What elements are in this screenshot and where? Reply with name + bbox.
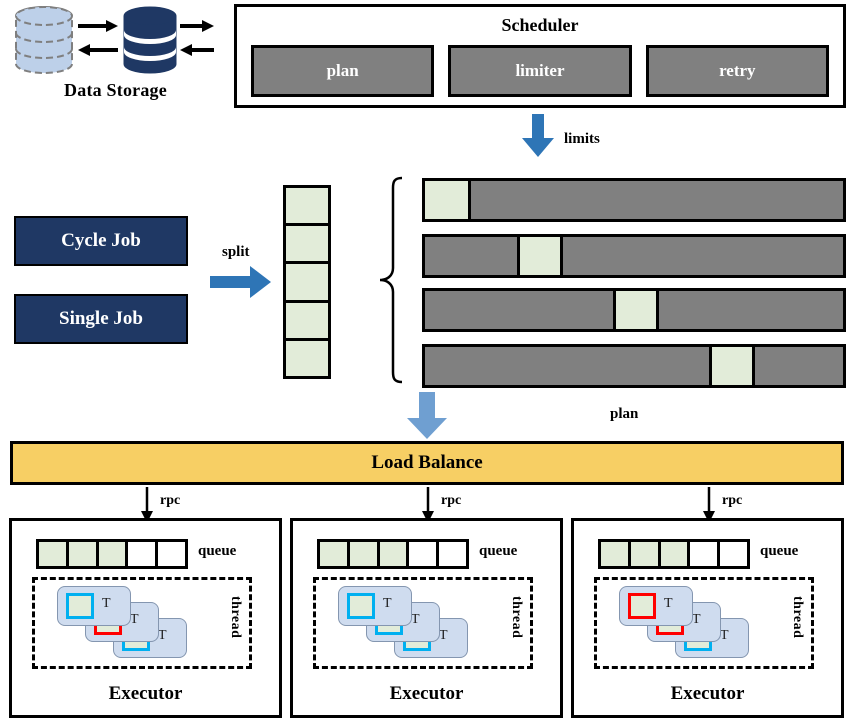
executor-label: Executor xyxy=(12,683,279,705)
thread-state-icon xyxy=(66,593,94,619)
scheduler-cell-limiter[interactable]: limiter xyxy=(448,45,631,97)
thread-card-label: T xyxy=(411,612,420,628)
task-cell xyxy=(286,188,328,226)
task-cell xyxy=(286,303,328,341)
limits-arrow-down-icon xyxy=(521,114,555,158)
plan-label: plan xyxy=(610,406,638,423)
scheduler-cell-row: plan limiter retry xyxy=(251,45,829,97)
data-storage-icon xyxy=(8,4,223,76)
scheduler-cell-retry[interactable]: retry xyxy=(646,45,829,97)
executor-queue xyxy=(598,539,750,569)
thread-card[interactable]: T xyxy=(619,586,693,626)
queue-cell xyxy=(690,542,720,566)
executor-queue xyxy=(36,539,188,569)
scheduler-cell-plan[interactable]: plan xyxy=(251,45,434,97)
arrow-pair-left xyxy=(78,20,118,56)
scheduler-panel: Scheduler plan limiter retry xyxy=(234,4,846,108)
thread-card-label: T xyxy=(439,628,448,644)
thread-card-label: T xyxy=(664,596,673,612)
thread-label: thread xyxy=(227,596,243,638)
executor-queue xyxy=(317,539,469,569)
queue-cell xyxy=(39,542,69,566)
timeline-bar-3 xyxy=(422,288,846,332)
thread-state-icon xyxy=(628,593,656,619)
executor-label: Executor xyxy=(574,683,841,705)
split-task-column xyxy=(283,185,331,379)
thread-card-label: T xyxy=(692,612,701,628)
thread-card[interactable]: T xyxy=(57,586,131,626)
queue-cell xyxy=(128,542,158,566)
database-cylinder-icon-center xyxy=(124,7,176,73)
thread-card-label: T xyxy=(130,612,139,628)
thread-card-label: T xyxy=(158,628,167,644)
timeline-bar-2 xyxy=(422,234,846,278)
timeline-bar-4 xyxy=(422,344,846,388)
rpc-label-2: rpc xyxy=(441,493,461,509)
task-cell xyxy=(286,341,328,376)
queue-cell xyxy=(69,542,99,566)
load-balance-bar[interactable]: Load Balance xyxy=(10,441,844,485)
queue-cell xyxy=(439,542,466,566)
thread-pool-box: thread T T T xyxy=(313,577,533,669)
queue-cell xyxy=(631,542,661,566)
queue-cell xyxy=(409,542,439,566)
executor-3-panel: queue thread T T T Executor xyxy=(571,518,844,718)
curly-brace-icon xyxy=(378,176,404,384)
split-arrow-right-icon xyxy=(210,265,272,299)
queue-cell xyxy=(158,542,185,566)
queue-label: queue xyxy=(760,543,798,560)
rpc-label-3: rpc xyxy=(722,493,742,509)
thread-label: thread xyxy=(789,596,805,638)
timeline-slot xyxy=(425,181,471,219)
queue-cell xyxy=(601,542,631,566)
thread-pool-box: thread T T T xyxy=(594,577,814,669)
queue-label: queue xyxy=(479,543,517,560)
thread-label: thread xyxy=(508,596,524,638)
database-cylinder-icon-left xyxy=(16,7,72,73)
arrow-pair-right xyxy=(180,20,214,56)
queue-cell xyxy=(661,542,691,566)
task-cell xyxy=(286,226,328,264)
plan-arrow-down-icon xyxy=(406,392,448,440)
task-cell xyxy=(286,264,328,302)
timeline-bar-1 xyxy=(422,178,846,222)
executor-1-panel: queue thread T T T Executor xyxy=(9,518,282,718)
scheduler-title: Scheduler xyxy=(237,15,843,36)
thread-card-label: T xyxy=(720,628,729,644)
single-job-box[interactable]: Single Job xyxy=(14,294,188,344)
limits-label: limits xyxy=(564,131,600,148)
thread-pool-box: thread T T T xyxy=(32,577,252,669)
rpc-label-1: rpc xyxy=(160,493,180,509)
thread-card-label: T xyxy=(102,596,111,612)
queue-cell xyxy=(380,542,410,566)
queue-cell xyxy=(720,542,747,566)
queue-cell xyxy=(99,542,129,566)
data-storage-label: Data Storage xyxy=(8,80,223,101)
executor-label: Executor xyxy=(293,683,560,705)
queue-label: queue xyxy=(198,543,236,560)
cycle-job-box[interactable]: Cycle Job xyxy=(14,216,188,266)
executor-2-panel: queue thread T T T Executor xyxy=(290,518,563,718)
thread-card-label: T xyxy=(383,596,392,612)
thread-card[interactable]: T xyxy=(338,586,412,626)
timeline-slot xyxy=(709,347,755,385)
timeline-slot xyxy=(517,237,563,275)
thread-state-icon xyxy=(347,593,375,619)
timeline-slot xyxy=(613,291,659,329)
queue-cell xyxy=(320,542,350,566)
split-label: split xyxy=(222,244,250,261)
queue-cell xyxy=(350,542,380,566)
